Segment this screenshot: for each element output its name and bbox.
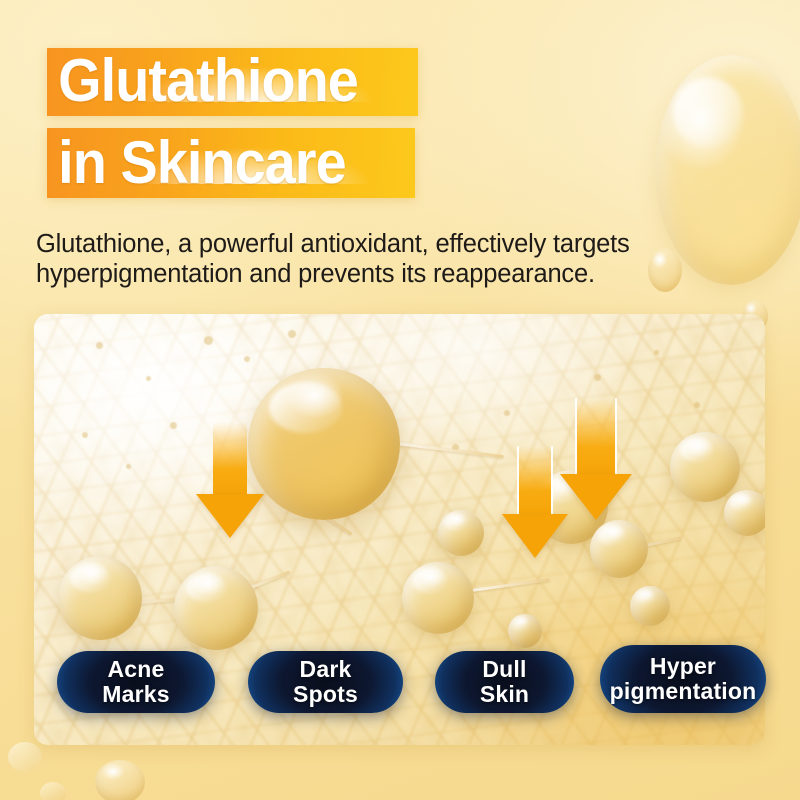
title-banner-line-1: Glutathione [47,48,418,116]
sphere-j [508,614,542,648]
benefit-pill-hyperpigmentation[interactable]: Hyper pigmentation [600,645,766,713]
title-line-2-text: in Skincare [47,128,389,198]
benefit-pill-label: Hyper pigmentation [610,654,757,704]
sphere-b [174,566,258,650]
benefit-pill-dark-spots[interactable]: Dark Spots [248,651,403,713]
sphere-main [248,368,400,520]
benefit-pill-label: Acne Marks [102,657,169,707]
subtitle-text: Glutathione, a powerful antioxidant, eff… [36,229,736,289]
benefit-pill-acne-marks[interactable]: Acne Marks [57,651,215,713]
benefit-pill-label: Dull Skin [480,657,529,707]
page-title: Glutathione in Skincare [47,48,418,198]
sphere-a [58,556,142,640]
infographic-poster: Glutathione in Skincare Glutathione, a p… [0,0,800,800]
sphere-f [590,520,648,578]
oil-droplet-bottom-left-icon [8,742,42,772]
sphere-g [670,432,740,502]
benefit-pill-label: Dark Spots [293,657,358,707]
sphere-i [630,586,670,626]
benefit-pill-dull-skin[interactable]: Dull Skin [435,651,574,713]
oil-droplet-bottom-small-icon [40,782,66,800]
sphere-h [724,490,765,536]
sphere-c [402,562,474,634]
title-banner-line-2: in Skincare [47,128,415,198]
arrow-acne-marks-icon [194,422,266,538]
sphere-d [438,510,484,556]
arrow-hyperpigmentation-icon [558,398,634,520]
title-line-1-text: Glutathione [47,48,392,114]
oil-droplet-bottom-icon [95,760,145,800]
